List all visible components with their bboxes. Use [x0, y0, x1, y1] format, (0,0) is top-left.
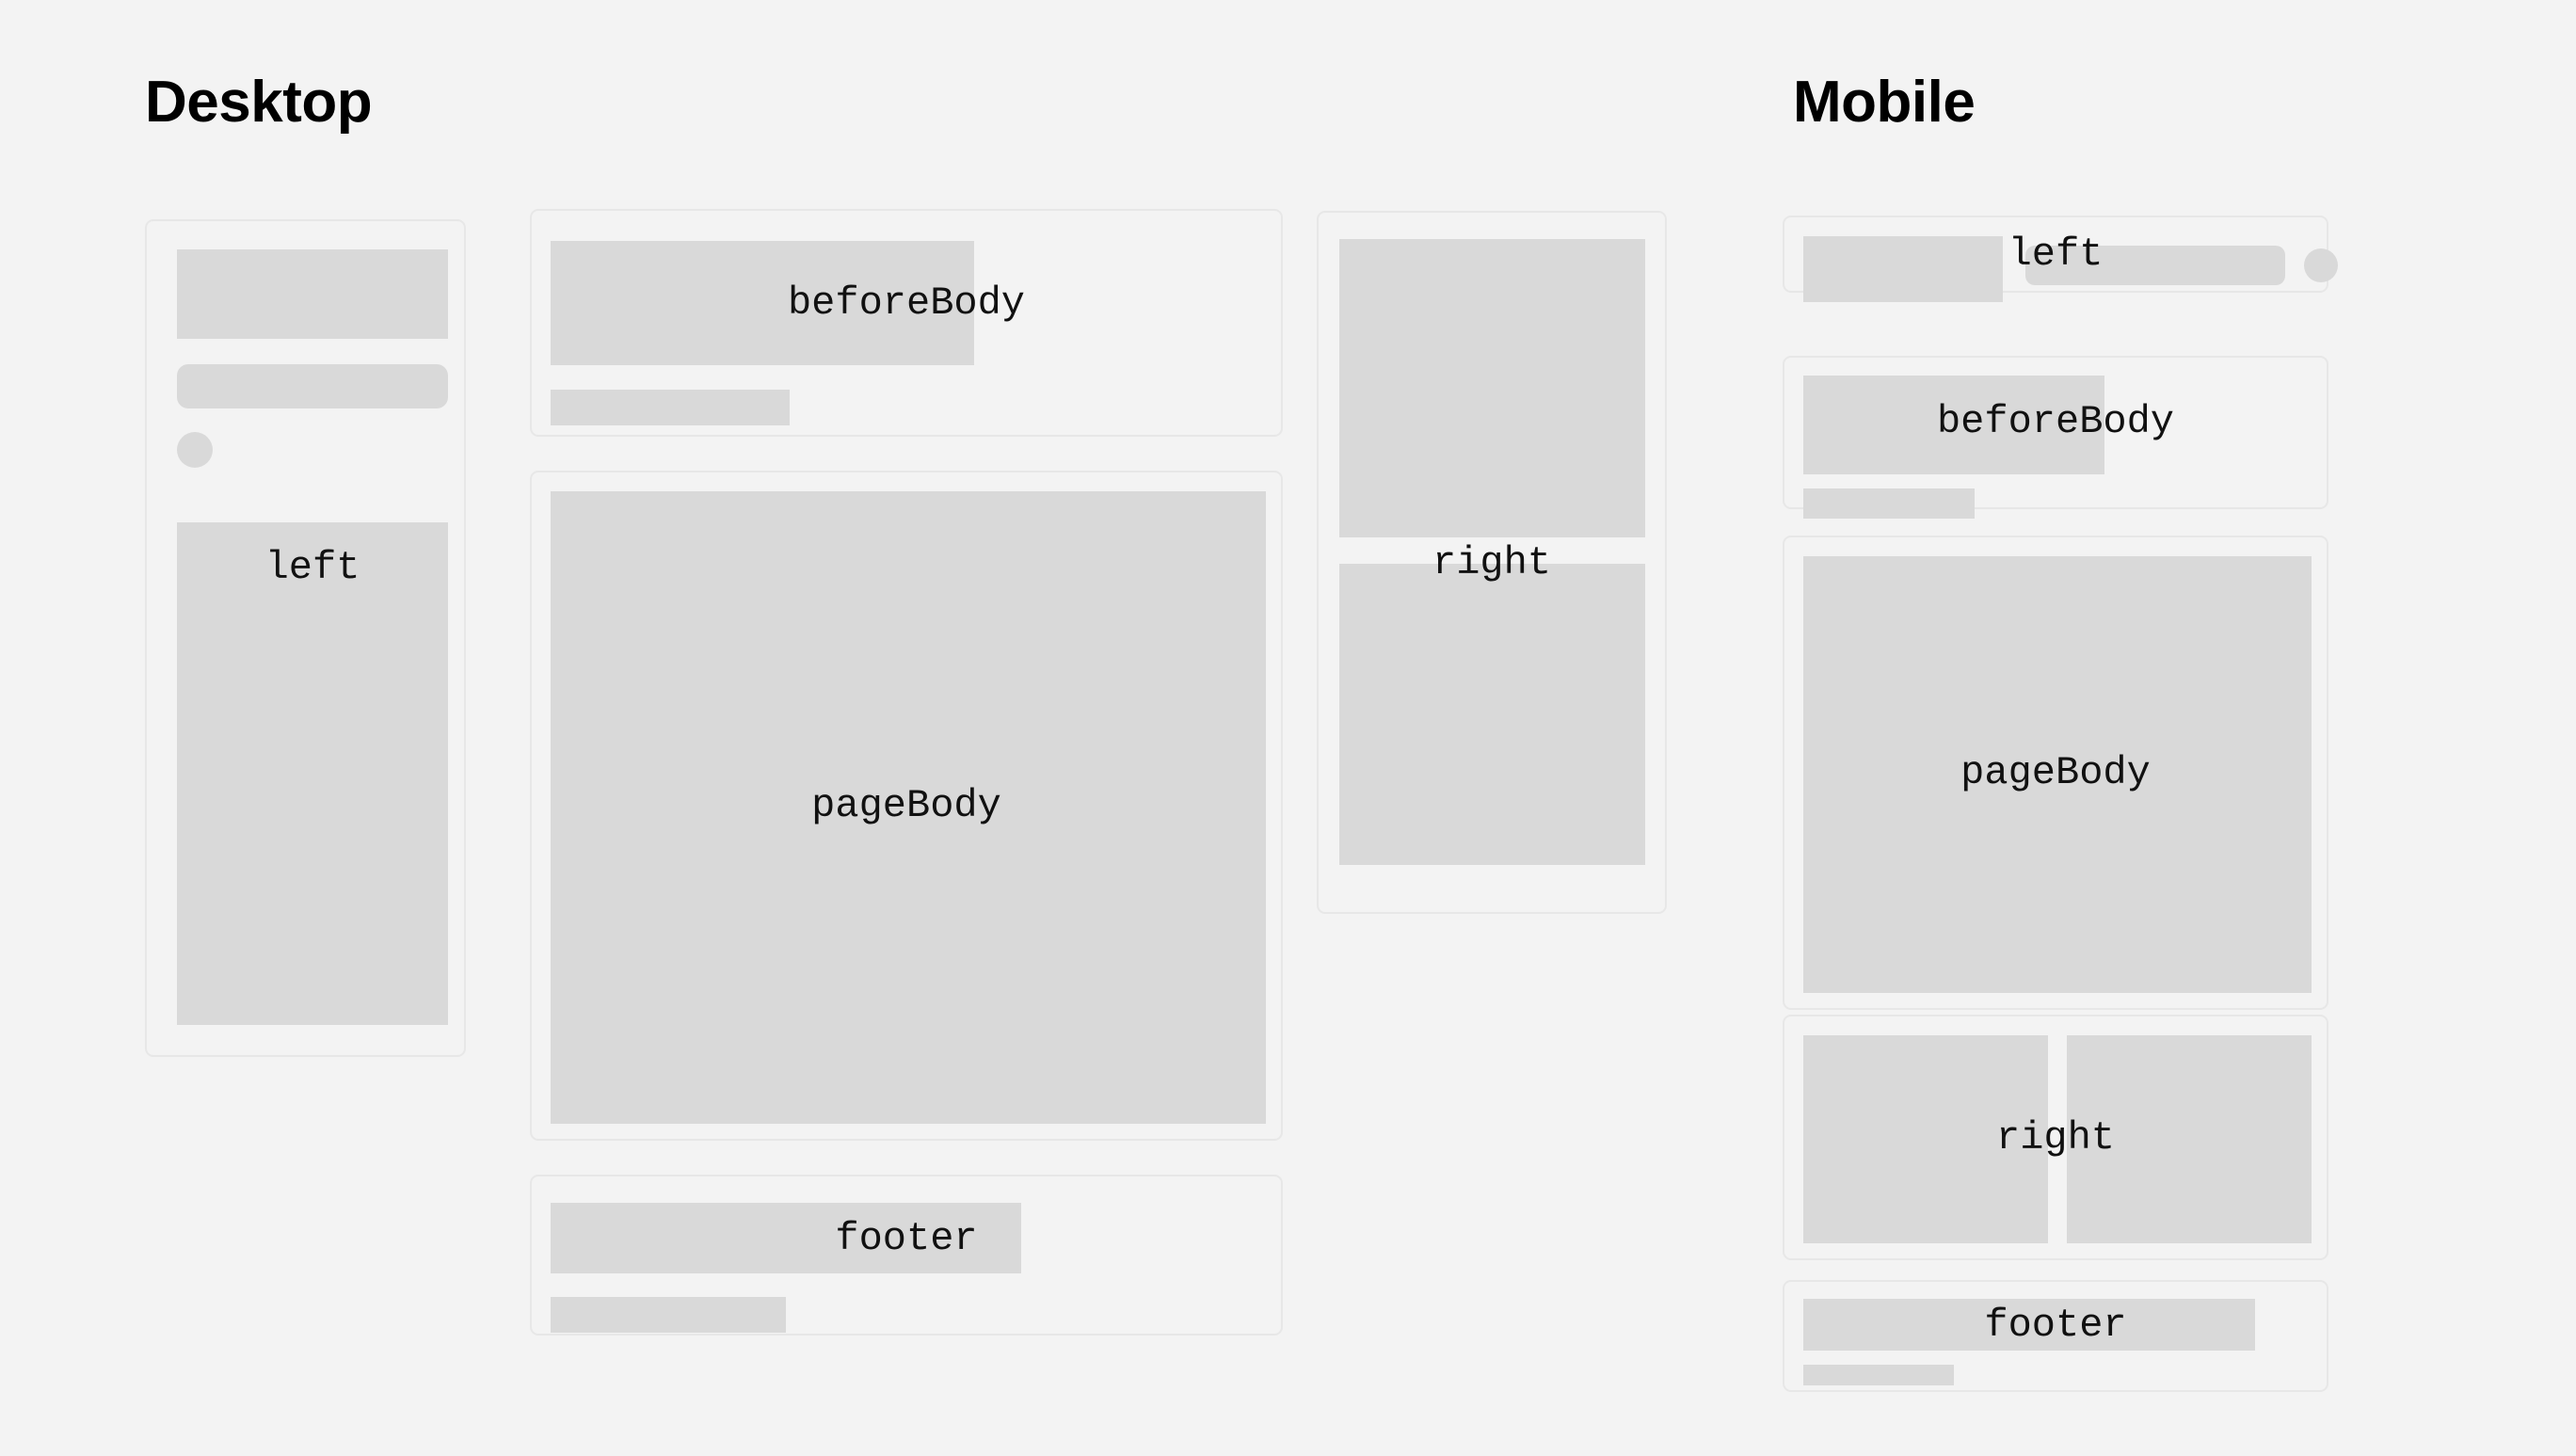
skeleton-block	[1803, 376, 2104, 474]
layout-preview-canvas: Desktop left beforeBody pageBody footer …	[0, 0, 2576, 1456]
skeleton-panel	[1803, 556, 2312, 993]
skeleton-bar	[551, 1297, 786, 1333]
skeleton-block-right	[2067, 1035, 2312, 1243]
skeleton-block	[1803, 1299, 2255, 1351]
mobile-right-slot-card[interactable]: right	[1783, 1015, 2328, 1260]
skeleton-block	[177, 249, 448, 339]
desktop-beforebody-slot-card[interactable]: beforeBody	[530, 209, 1283, 437]
skeleton-bar	[1803, 488, 1975, 519]
skeleton-avatar-circle	[2304, 248, 2338, 282]
skeleton-panel	[177, 522, 448, 1025]
skeleton-panel	[551, 491, 1266, 1124]
desktop-right-slot-card[interactable]: right	[1317, 211, 1667, 914]
skeleton-bar	[177, 364, 448, 408]
skeleton-bar	[2025, 246, 2285, 285]
skeleton-block	[551, 241, 974, 365]
desktop-pagebody-slot-card[interactable]: pageBody	[530, 471, 1283, 1141]
mobile-left-slot-card[interactable]: left	[1783, 216, 2328, 293]
mobile-beforebody-slot-card[interactable]: beforeBody	[1783, 356, 2328, 509]
mobile-section-title: Mobile	[1793, 73, 1975, 132]
skeleton-block-bottom	[1339, 564, 1645, 865]
skeleton-block	[551, 1203, 1021, 1273]
skeleton-block	[1803, 236, 2003, 302]
skeleton-avatar-circle	[177, 432, 213, 468]
skeleton-bar	[551, 390, 790, 425]
desktop-left-slot-card[interactable]: left	[145, 219, 466, 1057]
mobile-footer-slot-card[interactable]: footer	[1783, 1280, 2328, 1392]
skeleton-bar	[1803, 1365, 1954, 1385]
skeleton-block-top	[1339, 239, 1645, 537]
skeleton-block-left	[1803, 1035, 2048, 1243]
mobile-pagebody-slot-card[interactable]: pageBody	[1783, 536, 2328, 1010]
desktop-footer-slot-card[interactable]: footer	[530, 1175, 1283, 1336]
desktop-section-title: Desktop	[145, 73, 372, 132]
